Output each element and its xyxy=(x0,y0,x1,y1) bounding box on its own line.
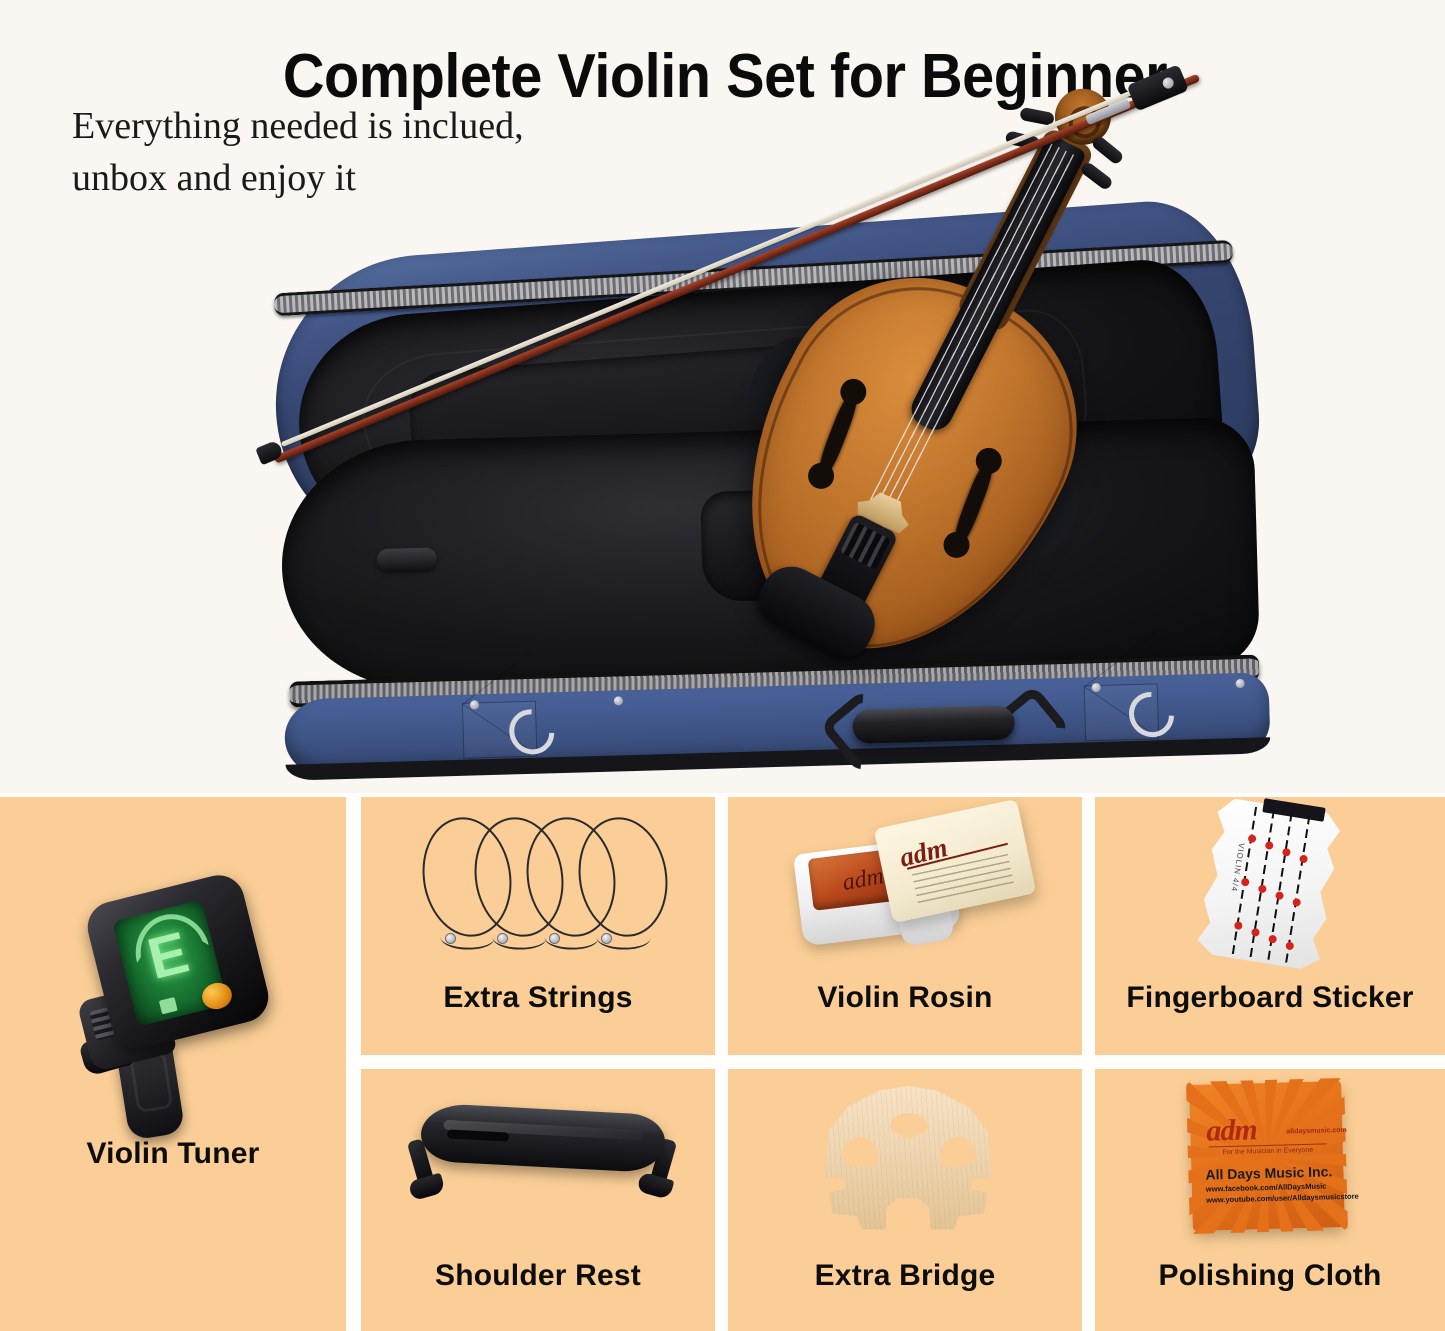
string-ball-end xyxy=(445,933,456,944)
bridge-heart-cutout xyxy=(890,1113,928,1135)
accessories-grid: E Violin Tuner Extra Strings xyxy=(0,793,1445,1331)
rivet-icon xyxy=(1236,679,1245,688)
card-label-violin-rosin: Violin Rosin xyxy=(728,981,1082,1015)
sticker-position-dot xyxy=(1234,921,1243,930)
cloth-facebook-url: www.facebook.com/AllDaysMusic xyxy=(1206,1181,1327,1193)
clip-on-tuner-icon: E xyxy=(78,887,268,1147)
sticker-position-dot xyxy=(1258,884,1267,893)
rivet-icon xyxy=(614,696,623,705)
sticker-position-dot xyxy=(1265,841,1274,850)
tuner-note-readout: E xyxy=(116,915,220,997)
cloth-tagline: For the Musician in Everyone xyxy=(1209,1143,1327,1156)
string-ball-end xyxy=(601,933,612,944)
violin-strings-coil-icon xyxy=(417,811,667,951)
sticker-position-dot xyxy=(1285,941,1294,950)
card-label-extra-strings: Extra Strings xyxy=(361,981,715,1015)
cloth-square: adm alldaysmusic.com For the Musician in… xyxy=(1189,1081,1345,1231)
shoulder-rest-icon xyxy=(403,1091,681,1221)
card-extra-strings[interactable]: Extra Strings xyxy=(361,797,715,1055)
sticker-position-dot xyxy=(1251,928,1260,937)
card-label-fingerboard-sticker: Fingerboard Sticker xyxy=(1095,981,1445,1015)
card-label-polishing-cloth: Polishing Cloth xyxy=(1095,1259,1445,1293)
card-label-extra-bridge: Extra Bridge xyxy=(728,1259,1082,1293)
sticker-position-dot xyxy=(1275,891,1284,900)
rosin-box-lid: adm xyxy=(874,799,1037,923)
card-violin-rosin[interactable]: adm Violin Rosin xyxy=(728,797,1082,1055)
card-shoulder-rest[interactable]: Shoulder Rest xyxy=(361,1069,715,1331)
string-ball-end xyxy=(549,933,560,944)
card-extra-bridge[interactable]: Extra Bridge xyxy=(728,1069,1082,1331)
card-polishing-cloth[interactable]: adm alldaysmusic.com For the Musician in… xyxy=(1095,1069,1445,1331)
bow-frog xyxy=(1127,64,1189,111)
bridge-kidney-cutout-left xyxy=(842,1137,878,1167)
fingerboard-sticker-icon: VIOLIN 4/4 xyxy=(1207,805,1353,971)
cloth-company-name: All Days Music Inc. xyxy=(1205,1163,1332,1182)
sticker-position-dot xyxy=(1282,848,1291,857)
card-violin-tuner[interactable]: E Violin Tuner xyxy=(0,797,346,1331)
polishing-cloth-icon: adm alldaysmusic.com For the Musician in… xyxy=(1191,1083,1351,1235)
sticker-position-dot xyxy=(1241,878,1250,887)
hero-section: Complete Violin Set for Beginner Everyth… xyxy=(0,0,1445,793)
rosin-box-icon: adm xyxy=(792,813,1032,963)
string-ball-end xyxy=(497,933,508,944)
cloth-brand-logo: adm xyxy=(1206,1113,1257,1148)
tuner-flat-indicator xyxy=(159,997,178,1014)
violin-case-photo xyxy=(255,60,1365,775)
sticker-position-dot xyxy=(1292,898,1301,907)
cloth-youtube-url: www.youtube.com/user/Alldaysmusicstore xyxy=(1206,1192,1359,1205)
card-label-shoulder-rest: Shoulder Rest xyxy=(361,1259,715,1293)
foot-pad xyxy=(408,1173,446,1202)
sticker-position-dot xyxy=(1299,854,1308,863)
sticker-position-dot xyxy=(1248,834,1257,843)
foot-pad xyxy=(636,1171,674,1200)
card-fingerboard-sticker[interactable]: VIOLIN 4/4 Fingerboard Sticker xyxy=(1095,797,1445,1055)
bridge-kidney-cutout-right xyxy=(940,1137,976,1167)
sticker-position-dot xyxy=(1268,935,1277,944)
card-label-violin-tuner: Violin Tuner xyxy=(0,1137,346,1171)
violin-bridge-icon xyxy=(820,1083,996,1233)
cloth-domain-text: alldaysmusic.com xyxy=(1286,1127,1346,1136)
